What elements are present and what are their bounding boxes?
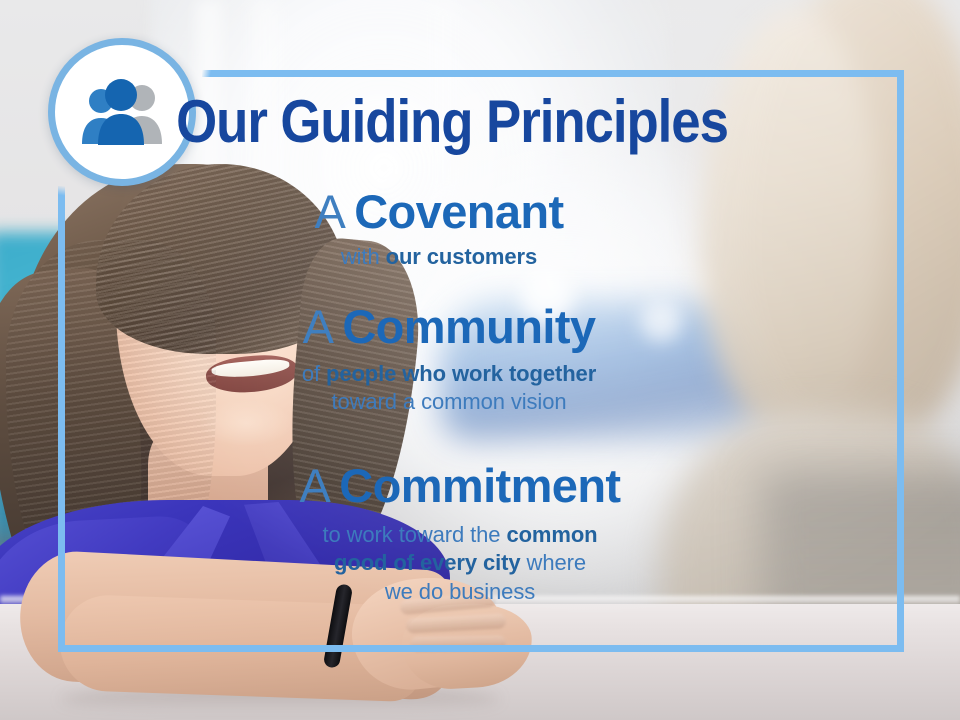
subtext-segment: to work toward the (322, 522, 506, 547)
principle-lead: A (300, 459, 340, 512)
principle-heading: ACommitment (0, 462, 920, 511)
subtext-segment: with (341, 244, 386, 269)
principle-word: Commitment (339, 459, 620, 512)
principle-lead: A (314, 185, 354, 238)
principle-covenant: ACovenant with our customers (0, 188, 878, 271)
text-layer: Our Guiding Principles ACovenant with ou… (0, 0, 960, 720)
principle-word: Community (342, 300, 595, 353)
subtext-line: good of every city where (0, 549, 920, 578)
subtext-line: with our customers (0, 243, 878, 272)
subtext-line: we do business (0, 578, 920, 607)
principle-subtext: with our customers (0, 243, 878, 272)
subtext-segment-bold: common (506, 522, 597, 547)
principle-subtext: to work toward the common good of every … (0, 521, 920, 607)
subtext-segment-bold: our customers (386, 244, 538, 269)
principle-lead: A (303, 300, 343, 353)
page-title: Our Guiding Principles (54, 92, 850, 152)
subtext-segment-bold: good of every city (334, 550, 520, 575)
principle-commitment: ACommitment to work toward the common go… (0, 462, 920, 607)
subtext-line: toward a common vision (0, 388, 898, 417)
subtext-segment-bold: people who work together (326, 361, 596, 386)
subtext-segment: of (302, 361, 326, 386)
subtext-segment: where (521, 550, 586, 575)
principle-word: Covenant (354, 185, 563, 238)
principle-subtext: of people who work together toward a com… (0, 360, 898, 417)
principle-community: ACommunity of people who work together t… (0, 303, 898, 417)
subtext-line: of people who work together (0, 360, 898, 389)
principle-heading: ACovenant (0, 188, 878, 237)
subtext-line: to work toward the common (0, 521, 920, 550)
principle-heading: ACommunity (0, 303, 898, 352)
banner-canvas: FLOW AUTOMOTIVE FLOW (0, 0, 960, 720)
